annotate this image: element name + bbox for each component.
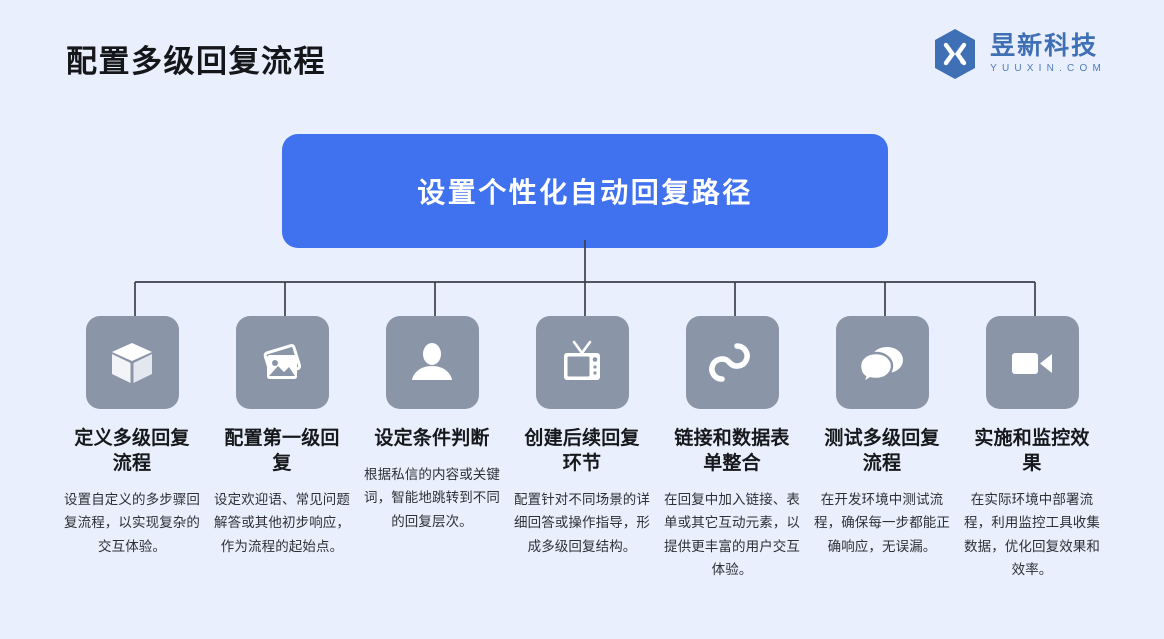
television-icon <box>536 316 629 409</box>
node-heading: 测试多级回复流程 <box>816 426 948 476</box>
user-icon <box>386 316 479 409</box>
node-heading: 链接和数据表单整合 <box>666 426 798 476</box>
node-description: 在回复中加入链接、表单或其它互动元素，以提供更丰富的用户交互体验。 <box>664 488 800 581</box>
node-column-3[interactable]: 设定条件判断 根据私信的内容或关键词，智能地跳转到不同的回复层次。 <box>357 316 507 581</box>
node-column-1[interactable]: 定义多级回复流程 设置自定义的多步骤回复流程，以实现复杂的交互体验。 <box>57 316 207 581</box>
node-description: 在实际环境中部署流程，利用监控工具收集数据，优化回复效果和效率。 <box>964 488 1100 581</box>
video-camera-icon <box>986 316 1079 409</box>
node-heading: 定义多级回复流程 <box>66 426 198 476</box>
node-heading: 设定条件判断 <box>366 426 498 451</box>
node-heading: 实施和监控效果 <box>966 426 1098 476</box>
node-column-5[interactable]: 链接和数据表单整合 在回复中加入链接、表单或其它互动元素，以提供更丰富的用户交互… <box>657 316 807 581</box>
node-description: 设定欢迎语、常见问题解答或其他初步响应，作为流程的起始点。 <box>214 488 350 558</box>
node-column-4[interactable]: 创建后续回复环节 配置针对不同场景的详细回答或操作指导，形成多级回复结构。 <box>507 316 657 581</box>
chat-bubbles-icon <box>836 316 929 409</box>
node-heading: 配置第一级回复 <box>216 426 348 476</box>
page-title: 配置多级回复流程 <box>66 36 326 81</box>
node-description: 设置自定义的多步骤回复流程，以实现复杂的交互体验。 <box>64 488 200 558</box>
node-column-2[interactable]: 配置第一级回复 设定欢迎语、常见问题解答或其他初步响应，作为流程的起始点。 <box>207 316 357 581</box>
hexagon-y-logo-icon <box>931 28 979 80</box>
brand-logo: 昱新科技 YUUXIN.COM <box>931 28 1106 80</box>
node-description: 配置针对不同场景的详细回答或操作指导，形成多级回复结构。 <box>514 488 650 558</box>
cube-icon <box>86 316 179 409</box>
node-column-6[interactable]: 测试多级回复流程 在开发环境中测试流程，确保每一步都能正确响应，无误漏。 <box>807 316 957 581</box>
root-node[interactable]: 设置个性化自动回复路径 <box>282 134 888 248</box>
root-node-label: 设置个性化自动回复路径 <box>417 171 753 211</box>
node-description: 根据私信的内容或关键词，智能地跳转到不同的回复层次。 <box>364 463 500 533</box>
node-description: 在开发环境中测试流程，确保每一步都能正确响应，无误漏。 <box>814 488 950 558</box>
brand-name: 昱新科技 <box>990 34 1106 59</box>
node-heading: 创建后续回复环节 <box>516 426 648 476</box>
photos-icon <box>236 316 329 409</box>
brand-domain: YUUXIN.COM <box>990 64 1106 74</box>
node-column-7[interactable]: 实施和监控效果 在实际环境中部署流程，利用监控工具收集数据，优化回复效果和效率。 <box>957 316 1107 581</box>
link-chain-icon <box>686 316 779 409</box>
node-columns: 定义多级回复流程 设置自定义的多步骤回复流程，以实现复杂的交互体验。 配置第一级… <box>0 316 1164 581</box>
page-header: 配置多级回复流程 昱新科技 YUUXIN.COM <box>0 0 1164 110</box>
